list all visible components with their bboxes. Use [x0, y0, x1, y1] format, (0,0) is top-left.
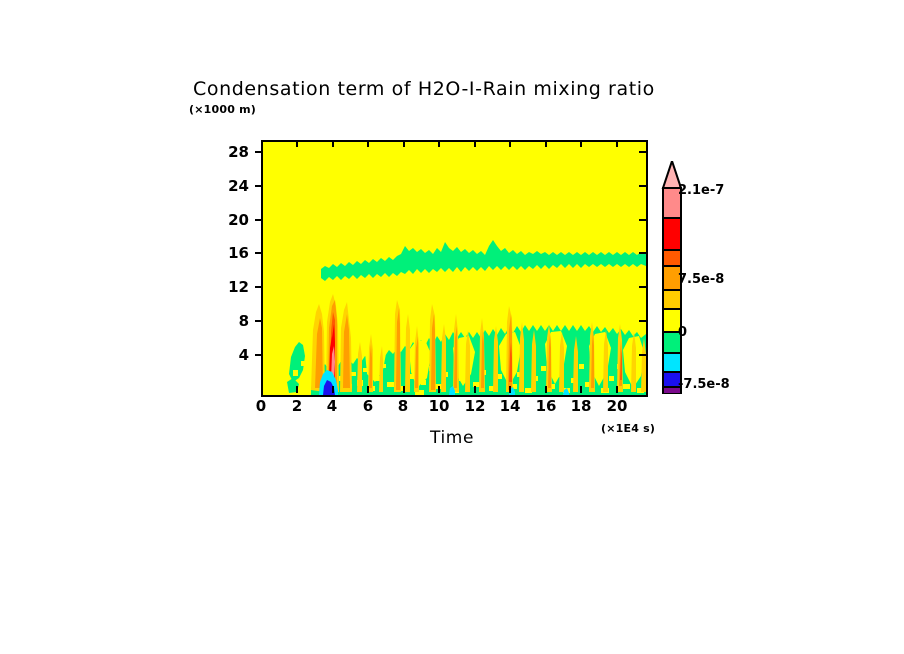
x-tick-label: 0 [252, 397, 270, 415]
x-tick-top-4 [332, 140, 334, 147]
y-tick-20 [255, 219, 262, 221]
x-tick-label: 4 [323, 397, 341, 415]
y-tick-label: 24 [205, 177, 249, 195]
y-tick-label: 8 [205, 312, 249, 330]
x-tick-14 [509, 386, 511, 393]
y-tick-28 [255, 151, 262, 153]
y-tick-right-28 [639, 151, 646, 153]
plot-area[interactable] [261, 140, 648, 397]
y-tick-right-20 [639, 219, 646, 221]
y-tick-16 [255, 252, 262, 254]
y-tick-24 [255, 185, 262, 187]
x-axis-label: Time [430, 428, 474, 448]
x-tick-label: 14 [497, 397, 523, 415]
x-tick-top-14 [509, 140, 511, 147]
x-tick-8 [403, 386, 405, 393]
colorbar-tick-label: -7.5e-8 [678, 377, 730, 392]
y-tick-right-8 [639, 320, 646, 322]
x-tick-label: 16 [533, 397, 559, 415]
x-tick-top-2 [296, 140, 298, 147]
y-tick-right-4 [639, 354, 646, 356]
y-axis-units-label: (×1000 m) [189, 103, 256, 116]
y-tick-label: 28 [205, 143, 249, 161]
x-tick-label: 2 [288, 397, 306, 415]
x-tick-20 [616, 386, 618, 393]
x-tick-label: 6 [359, 397, 377, 415]
x-tick-top-20 [616, 140, 618, 147]
y-tick-label: 4 [205, 346, 249, 364]
x-axis-units-label: (×1E4 s) [601, 422, 655, 435]
x-tick-6 [367, 386, 369, 393]
x-tick-label: 8 [394, 397, 412, 415]
figure-canvas: Condensation term of H2O-I-Rain mixing r… [0, 0, 904, 654]
x-tick-0 [261, 386, 263, 393]
colorbar-tick-label: 7.5e-8 [678, 272, 724, 287]
contour-field [263, 142, 646, 395]
x-tick-10 [438, 386, 440, 393]
y-tick-right-24 [639, 185, 646, 187]
x-tick-4 [332, 386, 334, 393]
y-tick-label: 16 [205, 244, 249, 262]
y-tick-label: 20 [205, 211, 249, 229]
colorbar-tick-label: 0 [678, 325, 687, 340]
x-tick-top-6 [367, 140, 369, 147]
x-tick-18 [580, 386, 582, 393]
x-tick-12 [474, 386, 476, 393]
x-tick-16 [545, 386, 547, 393]
x-tick-top-18 [580, 140, 582, 147]
y-tick-12 [255, 286, 262, 288]
x-tick-top-8 [403, 140, 405, 147]
x-tick-2 [296, 386, 298, 393]
x-tick-label: 18 [568, 397, 594, 415]
y-tick-right-12 [639, 286, 646, 288]
y-tick-right-16 [639, 252, 646, 254]
y-tick-4 [255, 354, 262, 356]
x-tick-label: 20 [604, 397, 630, 415]
y-tick-8 [255, 320, 262, 322]
x-tick-label: 12 [462, 397, 488, 415]
x-tick-top-16 [545, 140, 547, 147]
colorbar-tick-label: 2.1e-7 [678, 183, 724, 198]
x-tick-top-0 [261, 140, 263, 147]
y-tick-label: 12 [205, 278, 249, 296]
x-tick-top-10 [438, 140, 440, 147]
x-tick-label: 10 [426, 397, 452, 415]
page-title: Condensation term of H2O-I-Rain mixing r… [193, 78, 655, 100]
x-tick-top-12 [474, 140, 476, 147]
